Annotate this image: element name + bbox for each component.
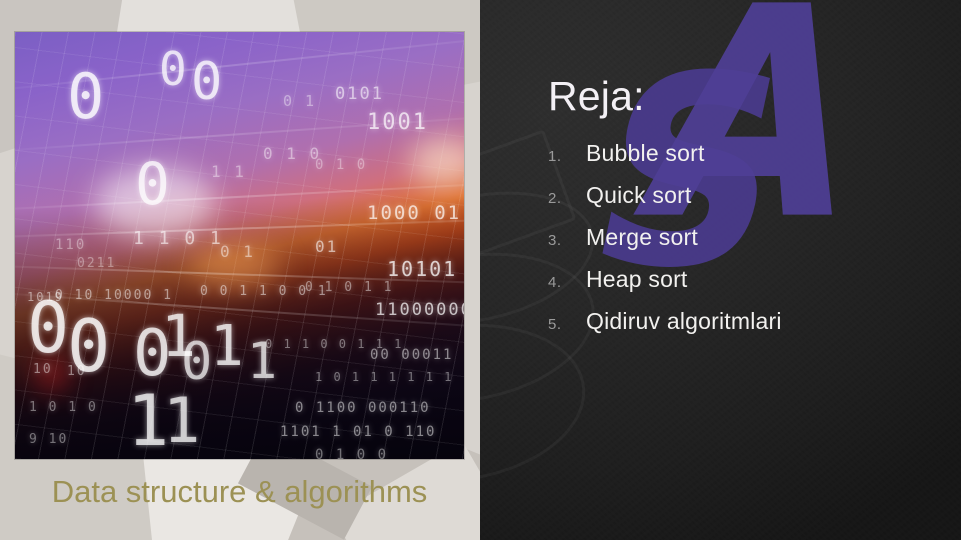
- image-digit: 0 1 0 1 1: [305, 280, 393, 295]
- image-digit: 0 1100 000110: [295, 400, 431, 416]
- agenda-item-label: Quick sort: [586, 182, 692, 209]
- image-digit: 1 1: [211, 162, 246, 181]
- agenda-item: 4.Heap sort: [548, 266, 948, 308]
- binary-code-image: 0000000101111100101011000 01011010111000…: [15, 32, 464, 459]
- agenda-list: 1.Bubble sort2.Quick sort3.Merge sort4.H…: [548, 140, 948, 350]
- agenda-item-label: Heap sort: [586, 266, 688, 293]
- agenda-item: 1.Bubble sort: [548, 140, 948, 182]
- image-digit: 0: [67, 60, 106, 133]
- image-digit: 0 1 0: [315, 157, 367, 173]
- image-digit: 01: [315, 237, 338, 256]
- slide-title: Reja:: [548, 72, 645, 120]
- agenda-item: 2.Quick sort: [548, 182, 948, 224]
- image-digit: 0 1: [220, 242, 255, 261]
- agenda-item-number: 4.: [548, 274, 586, 291]
- image-digit: 0 1 0 0: [315, 447, 388, 459]
- agenda-item-label: Bubble sort: [586, 140, 705, 167]
- image-digit: 9 10: [29, 432, 68, 447]
- image-digit: 0: [191, 52, 224, 112]
- image-digit: 10: [67, 364, 87, 379]
- agenda-item-number: 5.: [548, 316, 586, 333]
- image-digit: 1 0 1 1 1 1 1 1: [315, 370, 453, 384]
- agenda-item-number: 3.: [548, 232, 586, 249]
- image-digit: 00 00011: [370, 347, 453, 363]
- image-digit: 0 1 0: [263, 144, 321, 163]
- right-dark-panel: S A Reja: 1.Bubble sort2.Quick sort3.Mer…: [480, 0, 961, 540]
- agenda-item: 5.Qidiruv algoritmlari: [548, 308, 948, 350]
- image-digit: 0 1: [283, 92, 316, 110]
- image-binary-digits: 0000000101111100101011000 01011010111000…: [15, 32, 464, 459]
- image-digit: 10: [33, 362, 53, 377]
- image-digit: 1101 1 01 0 110: [280, 424, 436, 440]
- image-digit: 110: [55, 237, 86, 253]
- image-digit: 1 0 1 0: [29, 400, 98, 415]
- agenda-item-number: 2.: [548, 190, 586, 207]
- image-digit: 10101: [387, 257, 457, 281]
- agenda-item-label: Qidiruv algoritmlari: [586, 308, 782, 335]
- presentation-slide: 0000000101111100101011000 01011010111000…: [0, 0, 961, 540]
- image-digit: 0101: [335, 84, 384, 104]
- image-digit: 1: [163, 384, 202, 457]
- agenda-item: 3.Merge sort: [548, 224, 948, 266]
- agenda-item-number: 1.: [548, 148, 586, 165]
- agenda-item-label: Merge sort: [586, 224, 698, 251]
- image-digit: 1: [210, 314, 246, 379]
- image-digit: 11000000: [375, 300, 464, 320]
- image-digit: 0: [135, 150, 172, 218]
- slide-content: Reja: 1.Bubble sort2.Quick sort3.Merge s…: [480, 0, 961, 540]
- image-caption: Data structure & algorithms: [15, 470, 464, 513]
